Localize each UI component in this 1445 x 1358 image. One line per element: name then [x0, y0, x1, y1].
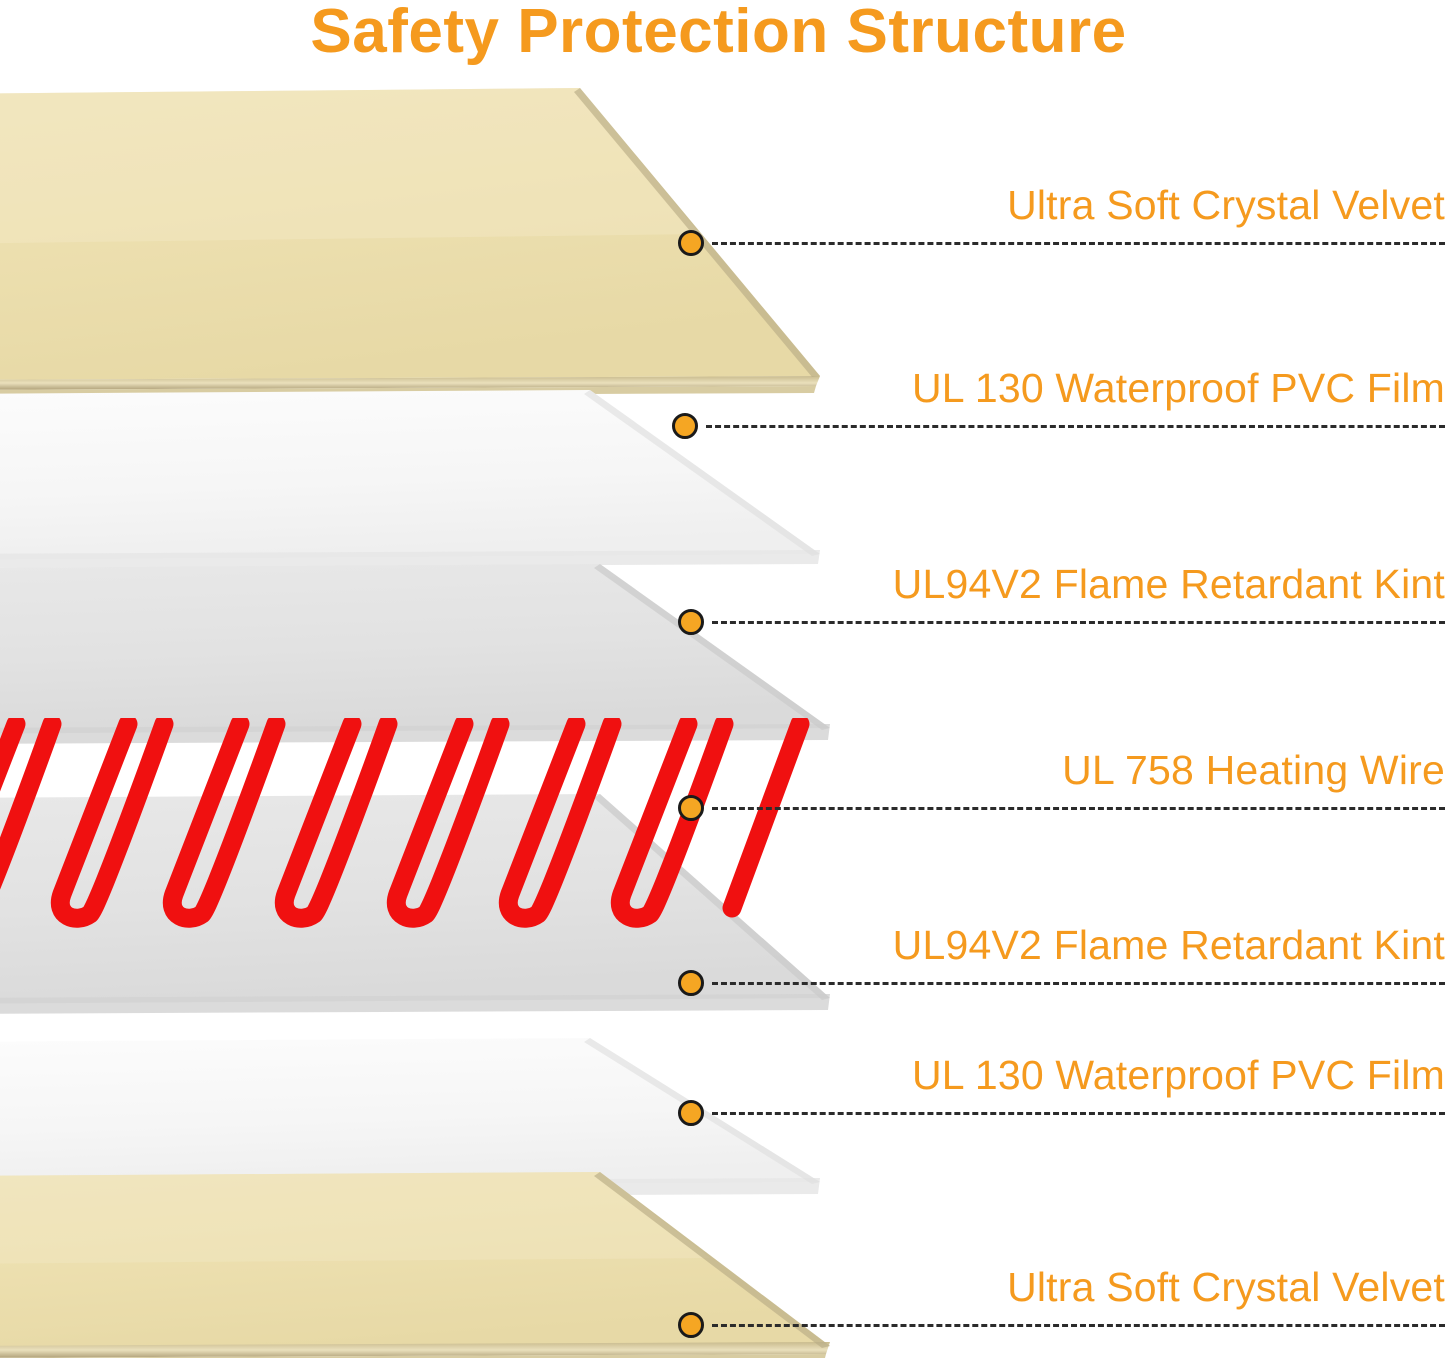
callout-leader-line [712, 1112, 1445, 1115]
callout-leader-line [712, 621, 1445, 624]
heating-wire-serpentine [0, 718, 900, 948]
callout-dot-icon [678, 795, 704, 821]
callout-dot-icon [678, 1100, 704, 1126]
callout-dot-icon [678, 970, 704, 996]
callout-label-knit-bottom: UL94V2 Flame Retardant Kint [893, 922, 1445, 969]
callout-label-knit-top: UL94V2 Flame Retardant Kint [893, 561, 1445, 608]
layer-slab-velvet-bottom [0, 1168, 890, 1358]
callout-label-pvc-top: UL 130 Waterproof PVC Film [912, 365, 1445, 412]
callout-leader-line [706, 425, 1445, 428]
callout-leader-line [712, 982, 1445, 985]
callout-dot-icon [678, 609, 704, 635]
callout-label-velvet-top: Ultra Soft Crystal Velvet [1007, 182, 1445, 229]
callout-leader-line [712, 242, 1445, 245]
callout-dot-icon [678, 1312, 704, 1338]
callout-leader-line [712, 1324, 1445, 1327]
callout-leader-line [712, 807, 1445, 810]
callout-dot-icon [672, 413, 698, 439]
callout-label-velvet-bottom: Ultra Soft Crystal Velvet [1007, 1264, 1445, 1311]
page-title: Safety Protection Structure [0, 0, 1445, 67]
layer-slab-pvc-top [0, 388, 890, 588]
callout-label-heating-wire: UL 758 Heating Wire [1062, 747, 1445, 794]
callout-dot-icon [678, 230, 704, 256]
safety-protection-structure-infographic: Ultra Soft Crystal Velvet UL 130 Waterpr… [0, 0, 1445, 1358]
callout-label-pvc-bottom: UL 130 Waterproof PVC Film [912, 1052, 1445, 1099]
